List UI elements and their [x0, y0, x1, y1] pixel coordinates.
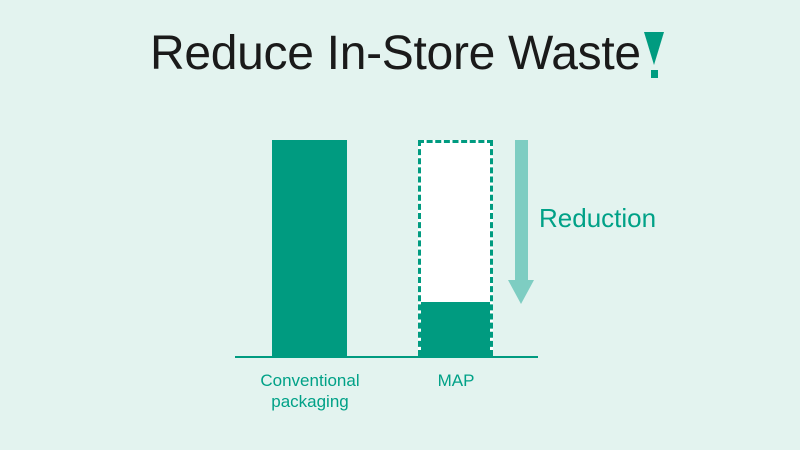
arrow-shaft — [515, 140, 528, 282]
bar-chart: Reduction Conventional packaging MAP — [0, 0, 800, 450]
slide-canvas: Reduce In-Store Waste Reduction Conventi… — [0, 0, 800, 450]
x-axis-label-line-2: packaging — [232, 391, 388, 412]
x-axis-label-map: MAP — [400, 370, 512, 391]
bar-map-fill — [421, 302, 490, 356]
bar-conventional-packaging — [272, 140, 347, 356]
arrow-head — [508, 280, 534, 304]
x-axis-label-line-1: Conventional — [232, 370, 388, 391]
x-axis-label-conventional-packaging: Conventional packaging — [232, 370, 388, 413]
reduction-annotation-label: Reduction — [539, 203, 656, 234]
chart-baseline-axis — [235, 356, 538, 358]
